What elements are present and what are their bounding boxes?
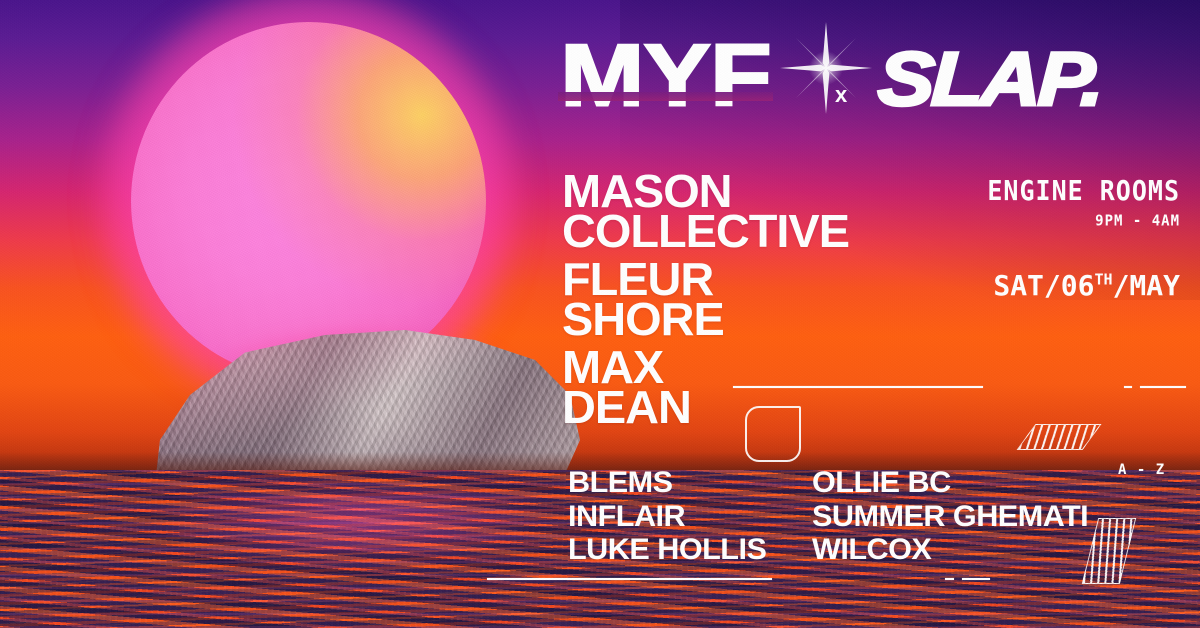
myf-logo-slice (558, 92, 773, 101)
divider-dash-bottom (945, 578, 954, 580)
date-ordinal: TH (1095, 271, 1113, 289)
divider-rule-bottom (487, 578, 772, 580)
divider-rule-mid-right (1140, 386, 1186, 388)
support-acts-left: BLEMS INFLAIR LUKE HOLLIS (568, 466, 763, 567)
venue-time: 9PM - 4AM (940, 212, 1180, 230)
date-prefix: SAT/06 (993, 269, 1094, 302)
event-flyer: MYF x SLAP. MASON COLLECTIVE FLEUR SHORE… (0, 0, 1200, 628)
myf-logo: MYF (560, 37, 771, 116)
rounded-square-mark (745, 406, 801, 462)
support-act: BLEMS (568, 466, 766, 500)
event-date: SAT/06TH/MAY (940, 272, 1180, 300)
support-act: WILCOX (812, 533, 1088, 567)
support-act: OLLIE BC (812, 466, 1088, 500)
divider-dash-mid (1124, 386, 1132, 388)
collab-separator: x (835, 82, 847, 108)
headliner-lineup: MASON COLLECTIVE FLEUR SHORE MAX DEAN (562, 172, 962, 427)
venue-name: ENGINE ROOMS (940, 177, 1180, 205)
support-act: SUMMER GHEMATI (812, 500, 1088, 534)
date-suffix: /MAY (1113, 269, 1180, 302)
slap-logo: SLAP. (877, 42, 1103, 118)
logo-lockup: MYF x SLAP. (560, 30, 1160, 130)
headliner-line: SHORE (562, 300, 970, 340)
support-act: INFLAIR (568, 500, 766, 534)
support-acts-right: OLLIE BC SUMMER GHEMATI WILCOX (812, 466, 1083, 567)
divider-rule-mid (733, 386, 983, 388)
venue-block: ENGINE ROOMS 9PM - 4AM (940, 178, 1180, 229)
divider-rule-bottom-right (962, 578, 990, 580)
headliner-line: COLLECTIVE (562, 212, 970, 252)
support-act: LUKE HOLLIS (568, 533, 766, 567)
water-reflection (150, 488, 570, 568)
az-label: A - Z (1118, 462, 1165, 478)
